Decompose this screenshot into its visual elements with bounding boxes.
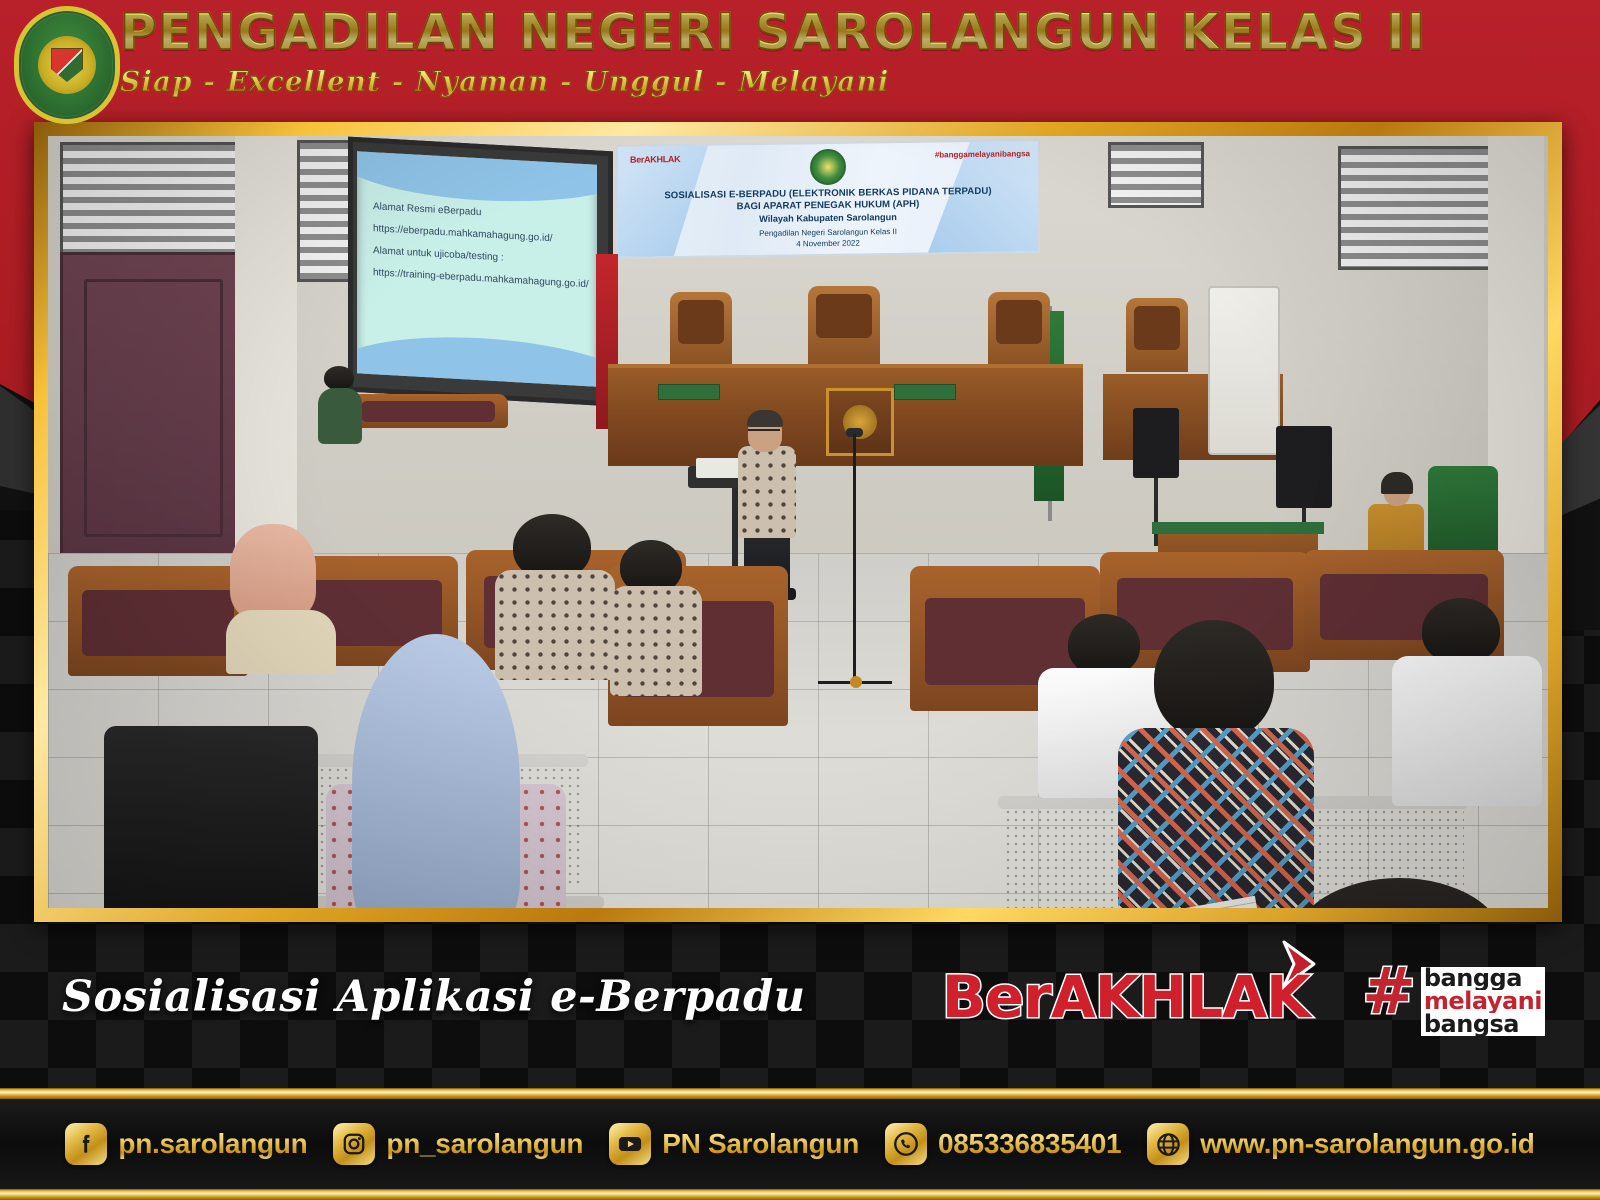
footer-gold-rule-bottom: [0, 1189, 1600, 1200]
footer-social-bar: pn.sarolangun pn_sarolangun PN Sarolangu…: [0, 1099, 1600, 1189]
social-item-facebook[interactable]: pn.sarolangun: [65, 1123, 307, 1165]
website-url[interactable]: www.pn-sarolangun.go.id: [1200, 1128, 1534, 1160]
page-header: PENGADILAN NEGERI SAROLANGUN KELAS II Si…: [0, 0, 1600, 118]
social-item-website[interactable]: www.pn-sarolangun.go.id: [1147, 1123, 1534, 1165]
photo-frame: Alamat Resmi eBerpadu https://eberpadu.m…: [34, 122, 1562, 922]
tagline-lines: bangga melayani bangsa: [1421, 964, 1545, 1036]
projector-screen: Alamat Resmi eBerpadu https://eberpadu.m…: [357, 151, 597, 386]
page-tagline: Siap - Excellent - Nyaman - Unggul - Mel…: [120, 62, 1586, 102]
speaker-hair: [747, 410, 783, 427]
window-louver-right: [1338, 146, 1494, 270]
slide-text: Alamat Resmi eBerpadu https://eberpadu.m…: [373, 196, 589, 296]
banner-hashtag-label: #banggamelayanibangsa: [935, 149, 1030, 159]
pa-speaker-right: [1276, 426, 1332, 508]
window-louver-midleft: [297, 140, 355, 282]
microphone-base: [818, 676, 892, 688]
event-photo: Alamat Resmi eBerpadu https://eberpadu.m…: [48, 136, 1548, 908]
youtube-handle[interactable]: PN Sarolangun: [662, 1128, 859, 1160]
facebook-icon[interactable]: [65, 1123, 107, 1165]
window-louver-farright: [1108, 142, 1204, 208]
website-icon[interactable]: [1147, 1123, 1189, 1165]
window-louver-left: [60, 142, 241, 258]
microphone-stand: [853, 434, 856, 684]
banner-berakhlak-label: BerAKHLAK: [630, 154, 680, 165]
speaker-body: [738, 446, 796, 538]
bangga-melayani-bangsa-logo: # bangga melayani bangsa: [1362, 964, 1545, 1036]
header-text-block: PENGADILAN NEGERI SAROLANGUN KELAS II Si…: [120, 2, 1586, 102]
page-title: PENGADILAN NEGERI SAROLANGUN KELAS II: [120, 2, 1586, 62]
nameplate-left: [658, 384, 720, 400]
door-left: [60, 252, 241, 558]
clerk-desk-top: [1152, 522, 1324, 534]
photo-caption: Sosialisasi Aplikasi e-Berpadu: [62, 972, 805, 1022]
instagram-icon[interactable]: [333, 1123, 375, 1165]
berakhlak-logo: BerAKHLAK: [942, 968, 1310, 1026]
nameplate-right: [894, 384, 956, 400]
social-item-instagram[interactable]: pn_sarolangun: [333, 1123, 583, 1165]
air-conditioner: [1208, 286, 1280, 455]
wall-pillar-left: [235, 136, 297, 566]
songkok-cap: [104, 726, 318, 908]
poster-root: PENGADILAN NEGERI SAROLANGUN KELAS II Si…: [0, 0, 1600, 1200]
social-item-youtube[interactable]: PN Sarolangun: [609, 1123, 859, 1165]
event-banner: BerAKHLAK #banggamelayanibangsa SOSIALIS…: [616, 139, 1040, 259]
clerk-person-hair: [1381, 472, 1413, 494]
judge-chair-center: [808, 286, 880, 366]
judge-chair-left: [670, 292, 732, 366]
judge-chair-right: [988, 292, 1050, 366]
social-item-whatsapp[interactable]: 085336835401: [885, 1123, 1121, 1165]
whatsapp-number[interactable]: 085336835401: [938, 1128, 1121, 1160]
wooden-chair-1: [68, 566, 248, 676]
tagline-line-3: bangsa: [1421, 1013, 1545, 1036]
banner-court-logo-icon: [810, 149, 846, 186]
speaker-glasses-icon: [748, 429, 780, 437]
whatsapp-icon[interactable]: [885, 1123, 927, 1165]
facebook-handle[interactable]: pn.sarolangun: [118, 1128, 307, 1160]
judge-chair-far: [1126, 298, 1188, 372]
instagram-handle[interactable]: pn_sarolangun: [386, 1128, 583, 1160]
pa-speaker-left: [1133, 408, 1179, 478]
footer-gold-rule-top: [0, 1088, 1600, 1099]
desk-small-left: [348, 394, 508, 428]
court-emblem: [826, 388, 894, 456]
hash-symbol: #: [1362, 964, 1416, 1020]
berakhlak-label: BerAKHLAK: [942, 963, 1310, 1031]
court-crest-icon: [14, 6, 120, 124]
youtube-icon[interactable]: [609, 1123, 651, 1165]
